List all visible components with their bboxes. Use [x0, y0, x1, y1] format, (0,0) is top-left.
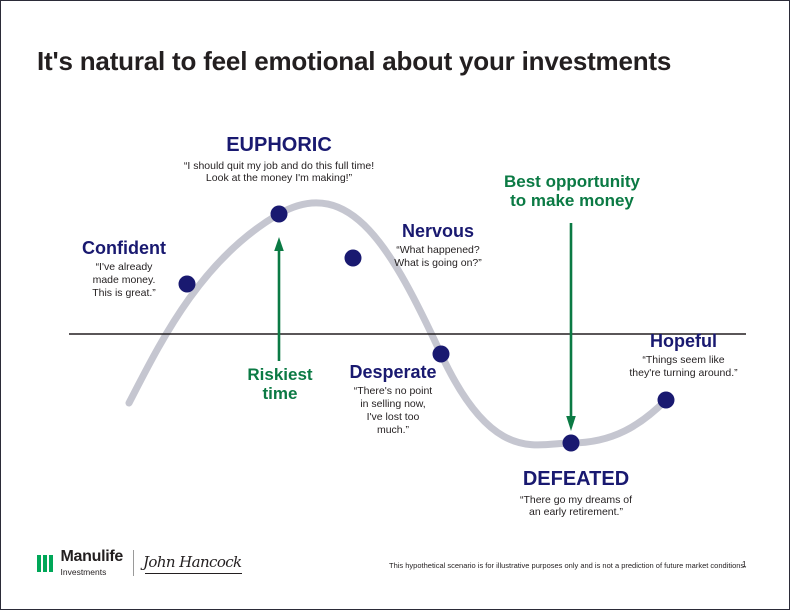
label-nervous-quote: “What happened? What is going on?”: [372, 244, 504, 270]
label-confident-quote: “I've already made money. This is great.…: [49, 261, 199, 299]
data-point-defeated: [563, 435, 580, 452]
label-desperate-title: Desperate: [328, 363, 458, 382]
label-nervous-title: Nervous: [372, 222, 504, 241]
label-defeated: DEFEATED “There go my dreams of an early…: [496, 469, 656, 519]
label-confident: Confident “I've already made money. This…: [49, 239, 199, 300]
label-confident-title: Confident: [49, 239, 199, 258]
label-desperate-quote: “There's no point in selling now, I've l…: [328, 385, 458, 436]
data-point-euphoric: [271, 206, 288, 223]
manulife-subtitle: Investments: [61, 568, 124, 577]
label-hopeful: Hopeful “Things seem like they're turnin…: [601, 332, 766, 380]
label-euphoric: EUPHORIC “I should quit my job and do th…: [164, 135, 394, 185]
label-defeated-quote: “There go my dreams of an early retireme…: [496, 494, 656, 520]
best-opportunity-arrow-icon: [566, 223, 576, 431]
john-hancock-wordmark: John Hancock: [143, 553, 242, 573]
page-number: 1: [742, 560, 746, 569]
annotation-best-opportunity: Best opportunity to make money: [481, 172, 663, 211]
manulife-bars-icon: [37, 555, 53, 572]
riskiest-time-arrow-icon: [274, 237, 284, 361]
label-hopeful-quote: “Things seem like they're turning around…: [601, 354, 766, 380]
investor-emotion-curve: [1, 1, 790, 610]
slide-canvas: It's natural to feel emotional about you…: [0, 0, 790, 610]
label-hopeful-title: Hopeful: [601, 332, 766, 351]
label-euphoric-title: EUPHORIC: [164, 135, 394, 157]
data-point-hopeful: [658, 392, 675, 409]
label-nervous: Nervous “What happened? What is going on…: [372, 222, 504, 270]
data-point-nervous: [345, 250, 362, 267]
label-desperate: Desperate “There's no point in selling n…: [328, 363, 458, 437]
manulife-wordmark: Manulife: [61, 549, 124, 565]
annotation-riskiest-time: Riskiest time: [224, 365, 336, 404]
footer-disclaimer: This hypothetical scenario is for illust…: [389, 561, 746, 570]
logo-divider: [133, 550, 134, 576]
data-point-desperate: [433, 346, 450, 363]
label-defeated-title: DEFEATED: [496, 469, 656, 491]
label-euphoric-quote: “I should quit my job and do this full t…: [164, 160, 394, 186]
brand-logo: Manulife Investments John Hancock: [37, 546, 242, 580]
